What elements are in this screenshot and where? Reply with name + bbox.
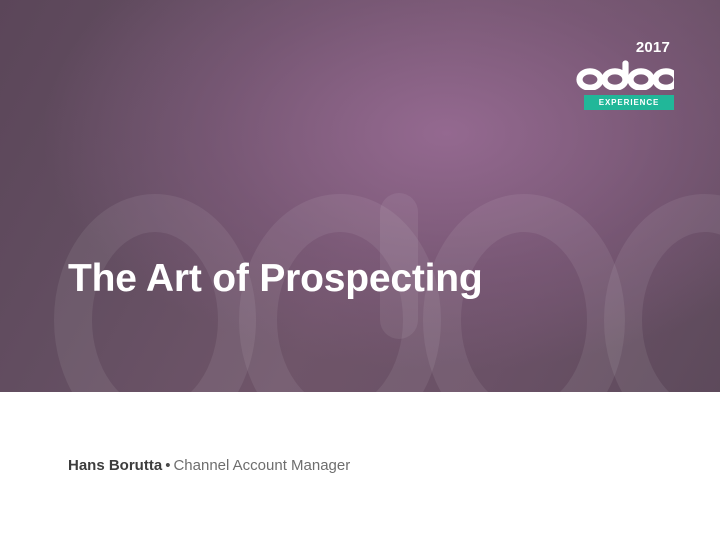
presenter-role: Channel Account Manager: [173, 457, 350, 474]
odoo-logo-icon: [576, 58, 674, 90]
byline-separator: •: [162, 457, 173, 474]
odoo-brand-lockup: 2017 EXPERIENCE: [550, 40, 674, 110]
presenter-byline: Hans Borutta•Channel Account Manager: [68, 456, 350, 476]
hero-band: 2017 EXPERIENCE The Art of Prospecting: [0, 0, 720, 392]
slide-title: The Art of Prospecting: [68, 258, 483, 300]
presenter-name: Hans Borutta: [68, 457, 162, 474]
brand-year-label: 2017: [550, 40, 674, 55]
presentation-slide: 2017 EXPERIENCE The Art of Prospecting H…: [0, 0, 720, 540]
experience-badge: EXPERIENCE: [584, 95, 674, 110]
